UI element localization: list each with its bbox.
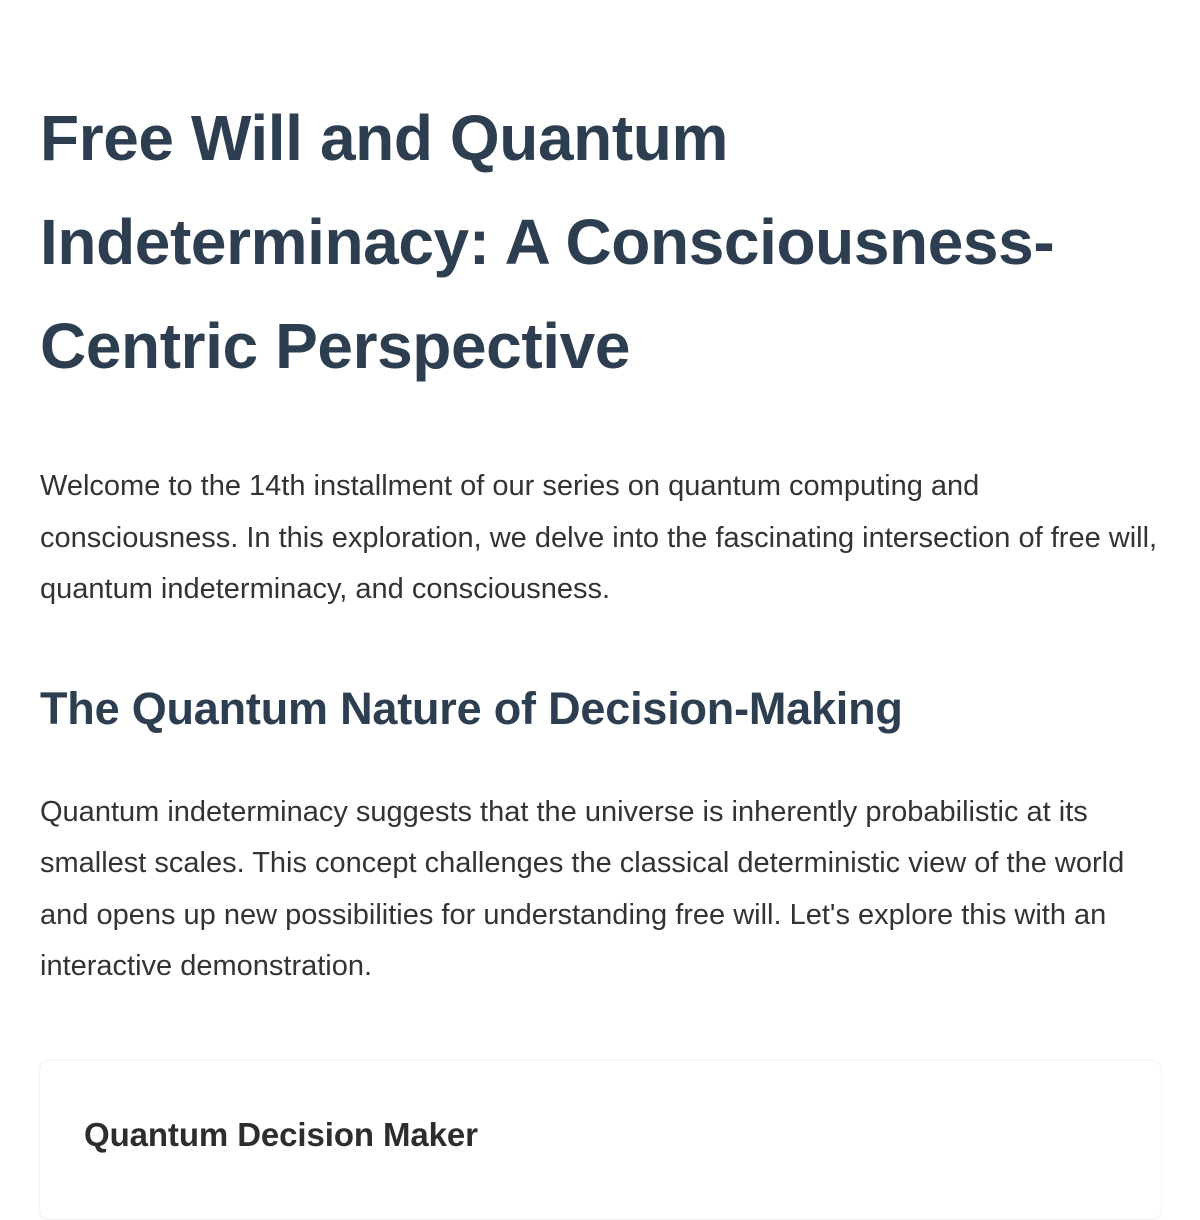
- quantum-decision-maker-card: Quantum Decision Maker: [39, 1060, 1162, 1220]
- article-page: Free Will and Quantum Indeterminacy: A C…: [0, 0, 1200, 1220]
- page-title: Free Will and Quantum Indeterminacy: A C…: [40, 0, 1100, 398]
- section-heading-quantum-nature-of-decision-making: The Quantum Nature of Decision-Making: [40, 616, 1160, 738]
- widget-title: Quantum Decision Maker: [84, 1115, 1117, 1155]
- section-paragraph: Quantum indeterminacy suggests that the …: [40, 738, 1160, 993]
- intro-paragraph: Welcome to the 14th installment of our s…: [40, 398, 1160, 616]
